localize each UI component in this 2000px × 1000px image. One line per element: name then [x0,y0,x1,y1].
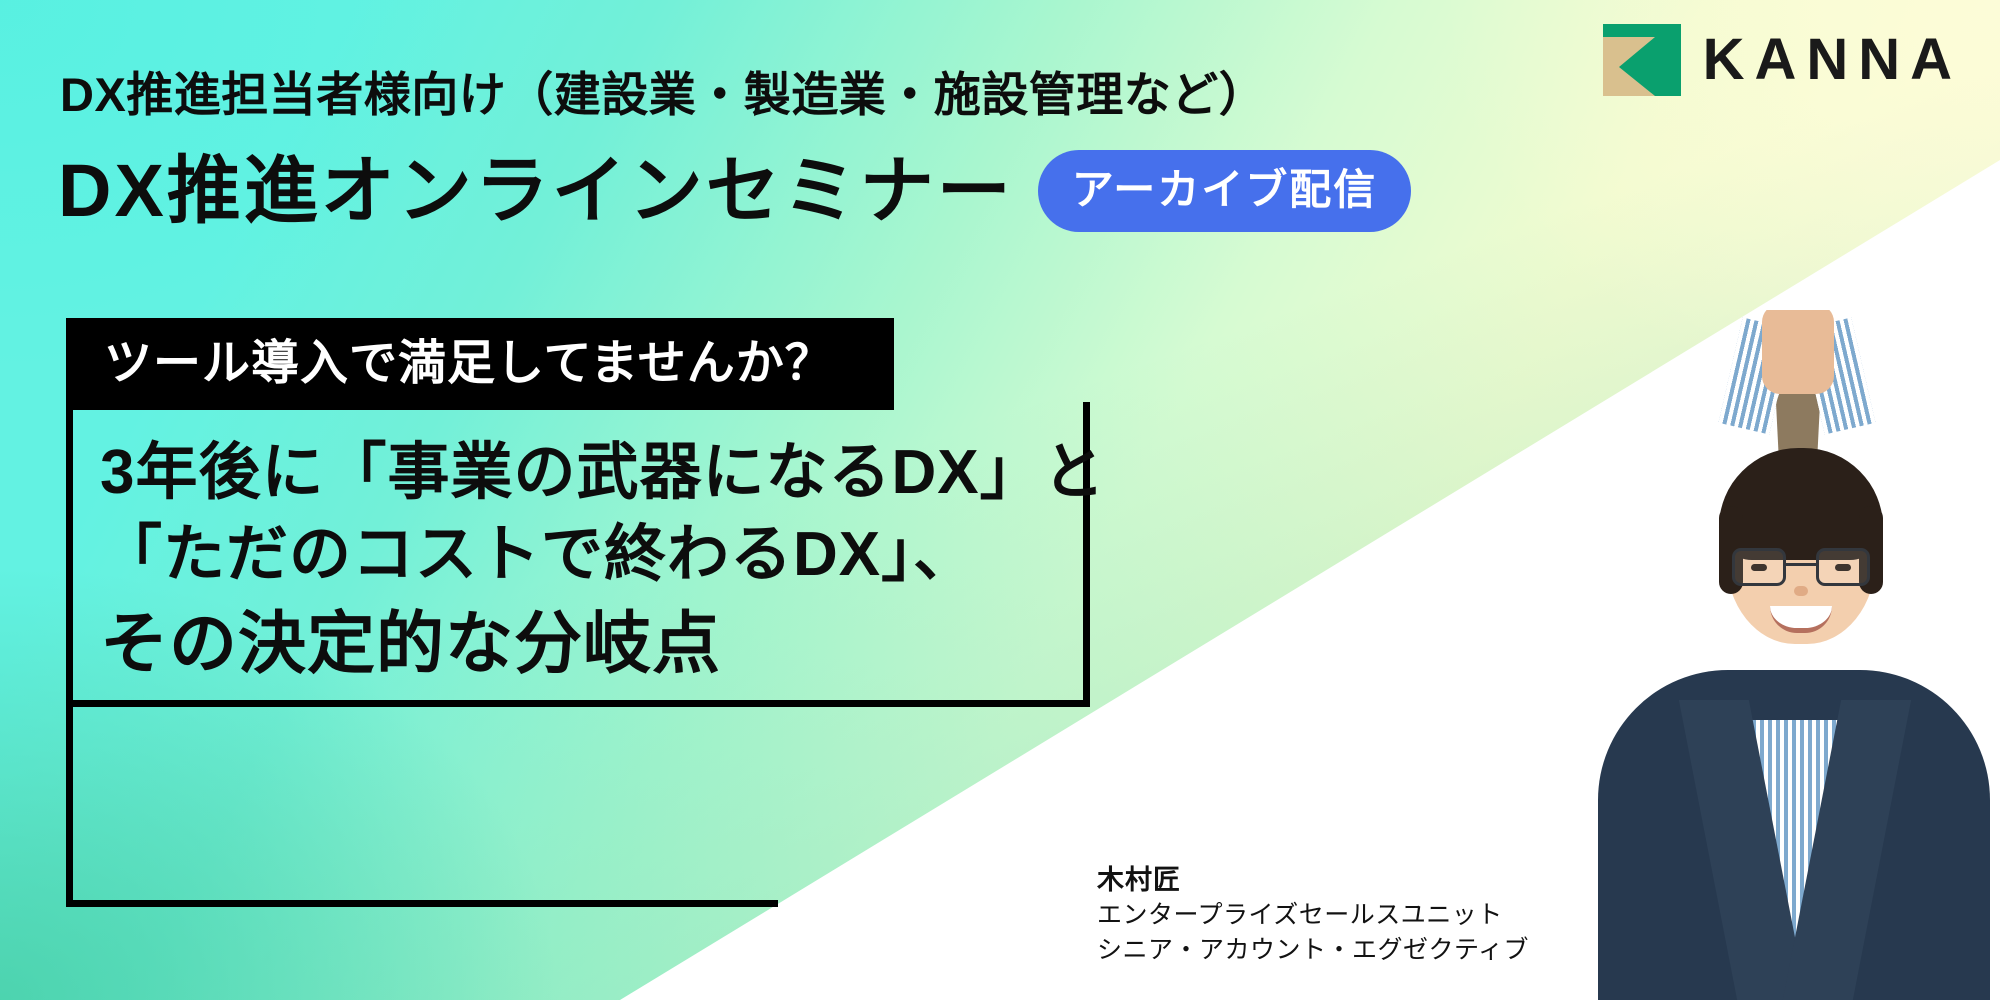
headline-line-1: 3年後に「事業の武器になるDX」と [100,432,1106,514]
archive-badge: アーカイブ配信 [1038,150,1411,232]
speaker-unit: エンタープライズセールスユニット [1097,898,1529,933]
speaker-role: シニア・アカウント・エグゼクティブ [1097,933,1529,968]
title-row: DX推進オンラインセミナー アーカイブ配信 [58,150,1411,232]
kanna-logo-text: KANNA [1703,31,1962,89]
kanna-logo-mark-icon [1603,24,1681,96]
headline-block: 3年後に「事業の武器になるDX」と 「ただのコストで終わるDX」、 その決定的な… [100,432,1106,692]
eyebrow-box: ツール導入で満足してませんか？ [66,318,894,410]
speaker-photo [1580,310,2000,1000]
headline-line-2: 「ただのコストで終わるDX」、 [100,514,1106,596]
speaker-name: 木村匠 [1097,862,1529,898]
eyebrow-text: ツール導入で満足してませんか？ [104,340,834,388]
photo-lens-left [1732,548,1786,586]
photo-nose [1794,586,1808,596]
speaker-credit: 木村匠 エンタープライズセールスユニット シニア・アカウント・エグゼクティブ [1097,862,1529,967]
photo-lens-right [1816,548,1870,586]
headline-frame-bottom-edge [66,900,778,907]
webinar-banner: DX推進担当者様向け（建設業・製造業・施設管理など） KANNA DX推進オンラ… [0,0,2000,1000]
audience-subtitle: DX推進担当者様向け（建設業・製造業・施設管理など） [60,56,1266,125]
headline-frame-left-edge [66,700,73,907]
kanna-logo: KANNA [1603,24,1962,96]
glasses-icon [1732,548,1870,588]
seminar-title: DX推進オンラインセミナー [58,154,1014,228]
headline-line-3: その決定的な分岐点 [100,596,1106,692]
photo-glasses-bridge [1786,563,1816,566]
photo-neck [1762,310,1834,394]
